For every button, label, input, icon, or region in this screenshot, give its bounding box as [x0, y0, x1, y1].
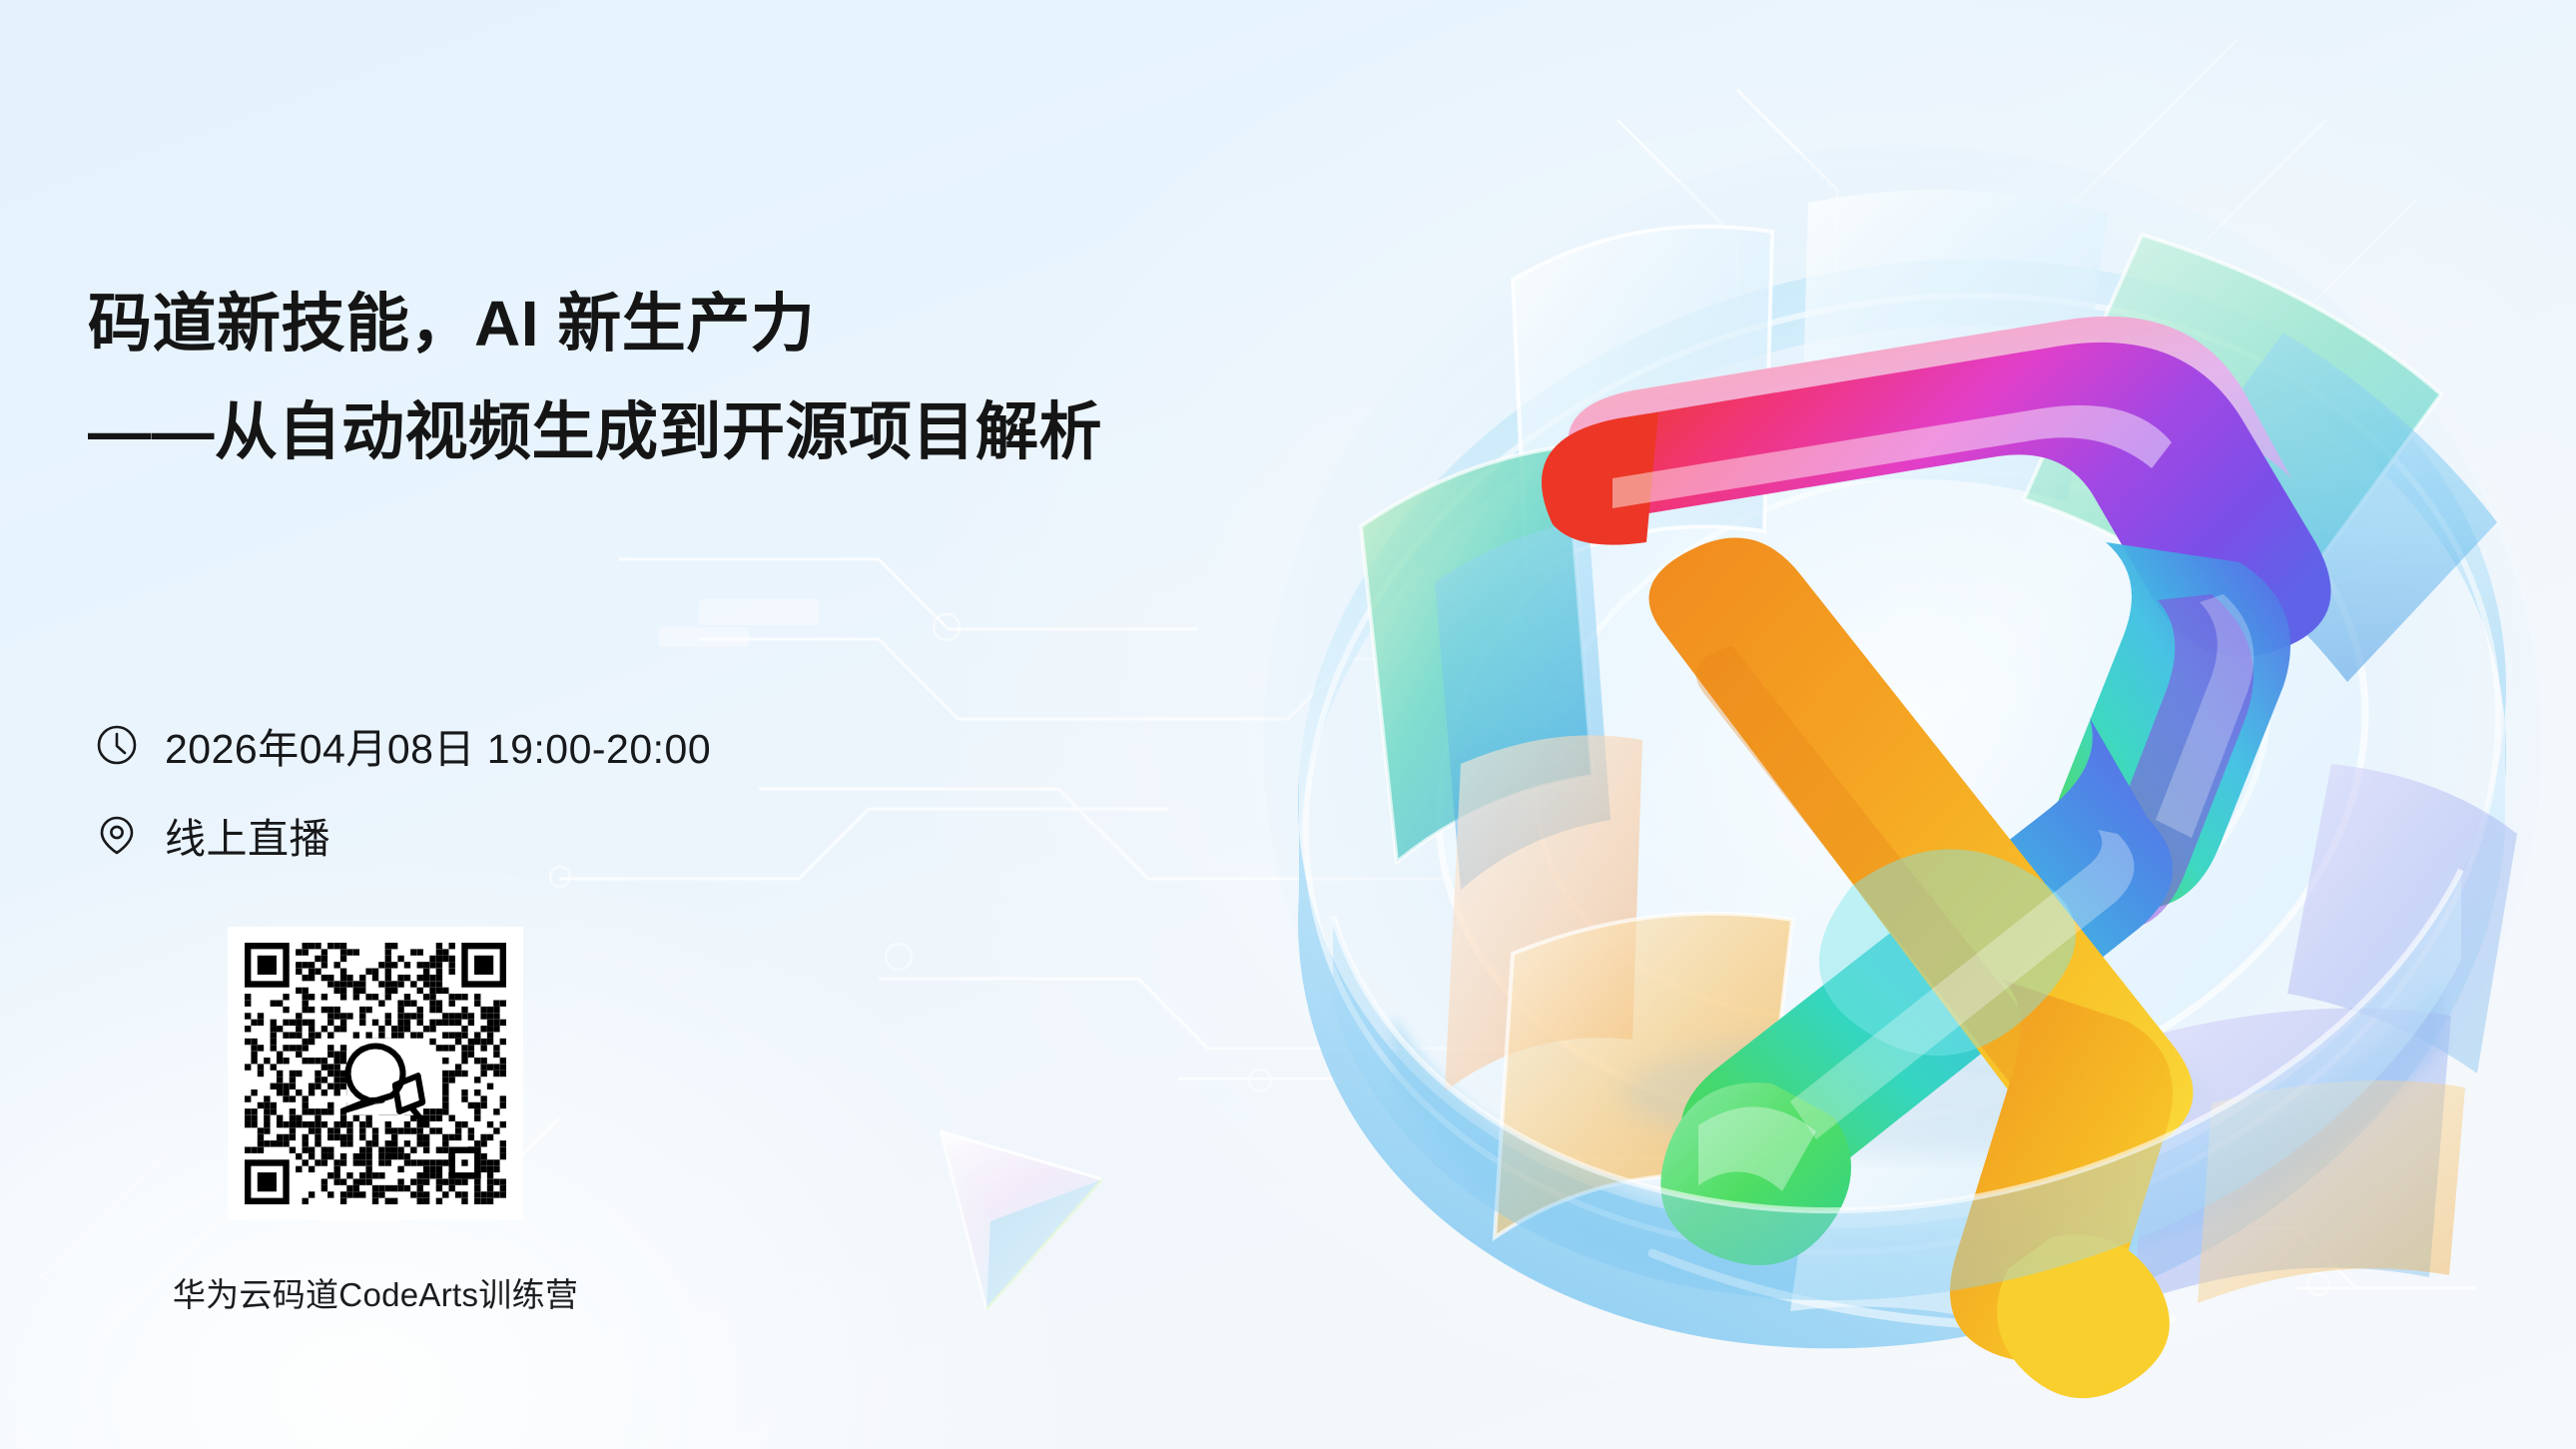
- qr-code-image[interactable]: [245, 943, 506, 1204]
- event-datetime-row: 2026年04月08日 19:00-20:00: [95, 713, 711, 777]
- event-location-row: 线上直播: [95, 803, 711, 867]
- location-icon: [95, 813, 139, 857]
- qr-code-panel[interactable]: [228, 927, 523, 1220]
- content-column: 码道新技能，AI 新生产力 ——从自动视频生成到开源项目解析 2026年04月0…: [0, 0, 1218, 1449]
- promo-banner: 码道新技能，AI 新生产力 ——从自动视频生成到开源项目解析 2026年04月0…: [0, 0, 2576, 1449]
- title-line-2: ——从自动视频生成到开源项目解析: [88, 401, 1206, 464]
- title-line-1: 码道新技能，AI 新生产力: [88, 292, 1206, 356]
- ring-accent-panels: [1361, 190, 2517, 1347]
- qr-caption: 华为云码道CodeArts训练营: [146, 1268, 605, 1316]
- glass-ring: [1213, 173, 2576, 1375]
- ring-front-edge: [1333, 870, 2461, 1300]
- event-datetime-text: 2026年04月08日 19:00-20:00: [165, 715, 711, 775]
- event-meta-block: 2026年04月08日 19:00-20:00 线上直播: [95, 713, 711, 893]
- event-location-text: 线上直播: [165, 805, 330, 865]
- codearts-3d-artwork: [1213, 75, 2576, 1449]
- ribbon-mark: [1542, 317, 2331, 1398]
- clock-icon: [95, 723, 139, 767]
- title-block: 码道新技能，AI 新生产力 ——从自动视频生成到开源项目解析: [88, 292, 1206, 464]
- qr-code-block[interactable]: [228, 927, 523, 1220]
